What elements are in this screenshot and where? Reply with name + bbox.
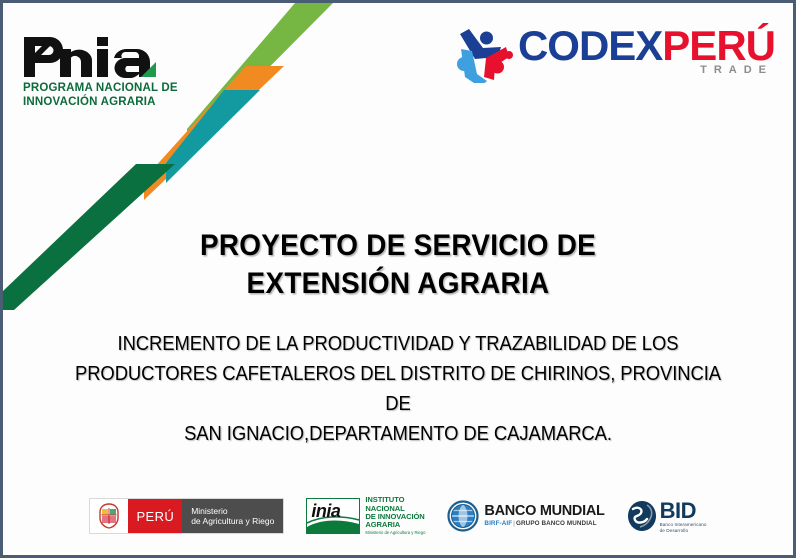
stripe-light-green [187, 3, 333, 150]
main-title: PROYECTO DE SERVICIO DE EXTENSIÓN AGRARI… [31, 227, 766, 303]
project-subtitle: INCREMENTO DE LA PRODUCTIVIDAD Y TRAZABI… [70, 329, 727, 449]
inia-institute-label: INSTITUTO NACIONAL DE INNOVACIÓN AGRARIA… [365, 488, 425, 544]
logo-inia: inia INSTITUTO NACIONAL DE INNOVACIÓN AG… [306, 498, 425, 534]
presentation-slide: PROGRAMA NACIONAL DE INNOVACIÓN AGRARIA … [0, 0, 796, 558]
pnia-wordmark [23, 36, 156, 78]
codexperu-word-codex: CODEX [518, 22, 662, 69]
inia-institute-lines: INSTITUTO NACIONAL DE INNOVACIÓN AGRARIA [365, 495, 424, 529]
inia-wordmark-box: inia [306, 498, 360, 534]
title-block: PROYECTO DE SERVICIO DE EXTENSIÓN AGRARI… [3, 227, 793, 303]
logo-bid: BID Banco Interamericano de Desarrollo [627, 499, 707, 534]
peru-coat-of-arms-icon [90, 499, 128, 533]
world-bank-group-label: GRUPO BANCO MUNDIAL [516, 520, 597, 527]
footer-logo-bar: PERÚ Ministerio de Agricultura y Riego i… [3, 493, 793, 539]
codexperu-people-icon [452, 27, 514, 83]
world-bank-wordmark: BANCO MUNDIAL [484, 504, 604, 519]
world-bank-subtitle: BIRF-AIF|GRUPO BANCO MUNDIAL [484, 519, 604, 528]
logo-minagri: PERÚ Ministerio de Agricultura y Riego [89, 498, 284, 534]
logo-banco-mundial: BANCO MUNDIAL BIRF-AIF|GRUPO BANCO MUNDI… [447, 500, 604, 532]
world-bank-globe-icon [447, 500, 479, 532]
minagri-peru-label: PERÚ [128, 499, 182, 533]
codexperu-wordmark: CODEXPERÚ [518, 25, 775, 67]
codexperu-logo: CODEXPERÚ TRADE [452, 25, 775, 83]
bid-wordmark: BID [660, 499, 707, 522]
minagri-ministry-label: Ministerio de Agricultura y Riego [182, 499, 283, 533]
world-bank-birf-label: BIRF-AIF [484, 520, 512, 527]
pnia-wordmark-icon [23, 36, 156, 78]
codexperu-word-peru: PERÚ [662, 22, 775, 69]
bid-globe-icon [627, 500, 657, 532]
inia-tagline: Ministerio de Agricultura y Riego [365, 530, 425, 536]
pnia-logo: PROGRAMA NACIONAL DE INNOVACIÓN AGRARIA [23, 36, 183, 109]
pnia-subtitle: PROGRAMA NACIONAL DE INNOVACIÓN AGRARIA [23, 82, 183, 109]
inia-wordmark: inia [311, 502, 340, 520]
subtitle-block: INCREMENTO DE LA PRODUCTIVIDAD Y TRAZABI… [33, 329, 763, 449]
bid-subtitle: Banco Interamericano de Desarrollo [660, 522, 707, 534]
